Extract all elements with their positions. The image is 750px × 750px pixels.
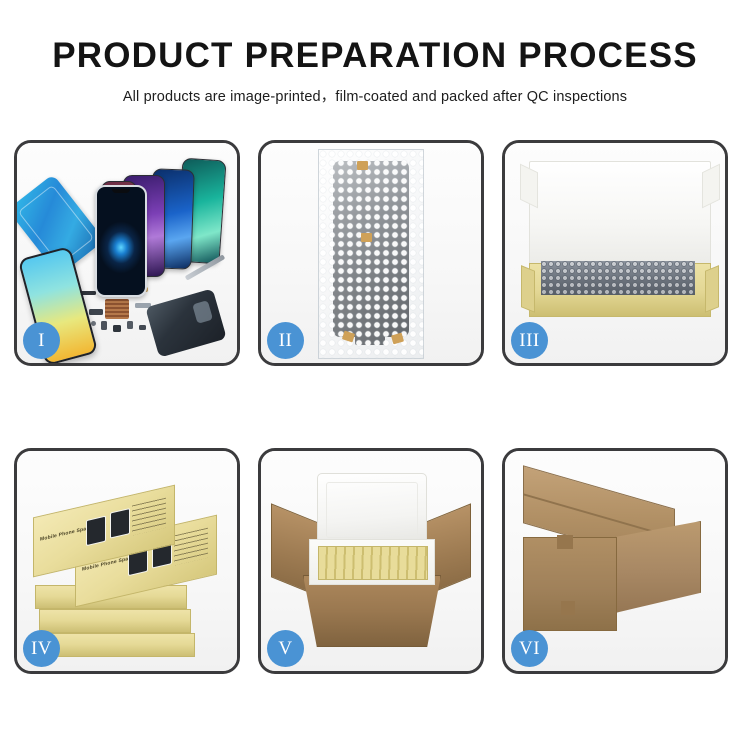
step-badge-5: V [267,630,304,667]
white-box-lid-graphic [529,161,711,275]
process-step-1: I [14,140,240,366]
header: PRODUCT PREPARATION PROCESS All products… [0,38,750,106]
page-subtitle: All products are image-printed，film-coat… [0,85,750,106]
foam-lid-graphic [317,473,427,547]
page-title: PRODUCT PREPARATION PROCESS [0,38,750,75]
process-step-4: Mobile Phone Spare Parts Mobile Phone Sp… [14,448,240,674]
process-step-3: III [502,140,728,366]
step-badge-4: IV [23,630,60,667]
carton-side-face [615,521,701,613]
step-badge-3: III [511,322,548,359]
phone-screen-front-graphic [95,185,147,297]
product-preparation-infographic: PRODUCT PREPARATION PROCESS All products… [0,0,750,750]
flex-cable-part-3 [89,309,103,315]
small-part-3 [113,325,121,332]
stacked-box-middle [39,609,191,633]
carton-body-open [303,575,441,647]
box-stack-graphic: Mobile Phone Spare Parts Mobile Phone Sp… [27,467,233,659]
process-step-grid: I II III [14,140,736,674]
step-badge-2: II [267,322,304,359]
packed-yellow-boxes-graphic [318,546,428,580]
tape-piece-2 [361,233,372,242]
box-spec-lines-back [132,498,166,536]
bubble-wrap-bag-graphic [318,149,424,359]
carton-tape-patch-1 [557,535,573,549]
step-badge-1: I [23,322,60,359]
carton-front-face [523,537,617,631]
small-part-2 [101,321,107,330]
stacked-box-bottom [43,633,195,657]
box-thumbnail-3 [86,516,106,547]
process-step-5: V [258,448,484,674]
logic-board-part [105,299,129,319]
small-part-5 [139,325,146,330]
small-part-4 [127,321,133,329]
carton-tape-patch-2 [561,601,575,615]
process-step-2: II [258,140,484,366]
box-spec-lines-front [174,528,208,566]
box-thumbnail-4 [110,508,130,539]
small-part-1 [91,321,96,326]
process-step-6: VI [502,448,728,674]
tape-piece-1 [357,161,368,170]
bubble-wrap-padding-graphic [541,261,695,295]
foam-liner-graphic [309,539,435,585]
step-badge-6: VI [511,630,548,667]
